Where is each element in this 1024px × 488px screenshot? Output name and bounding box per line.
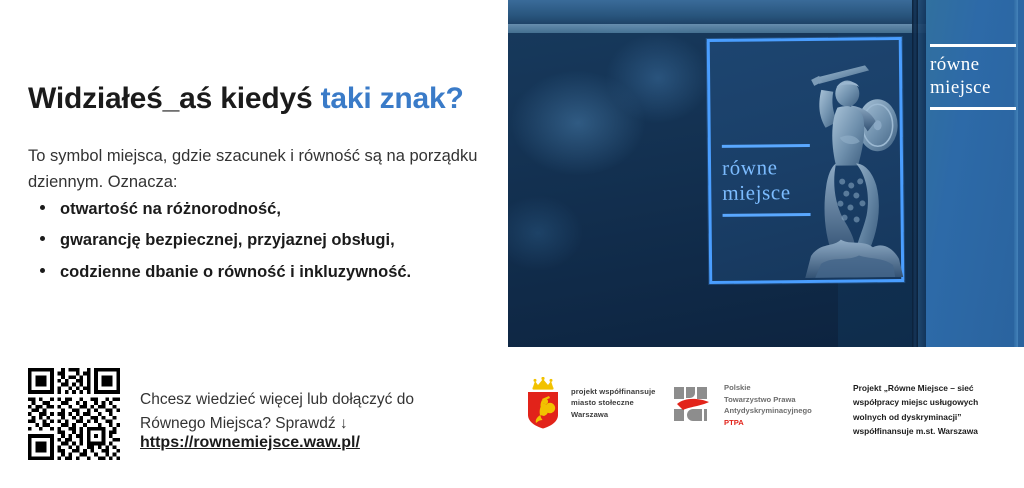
logo-word-1: równe: [930, 54, 1016, 77]
ptpa-line-3: Antydyskryminacyjnego: [724, 405, 812, 417]
left-text-column: Widziałeś_aś kiedyś taki znak? To symbol…: [0, 0, 508, 488]
qr-invitation-text: Chcesz wiedzieć więcej lub dołączyć do R…: [140, 388, 470, 436]
page-title: Widziałeś_aś kiedyś taki znak?: [28, 82, 498, 117]
footer-logos: projekt współfinansuje miasto stołeczne …: [508, 347, 1024, 488]
qr-code-block[interactable]: [28, 368, 120, 460]
ptpa-logo-text: Polskie Towarzystwo Prawa Antydyskrymina…: [724, 382, 812, 428]
bullet-dot-icon: [40, 205, 45, 210]
project-line-4: współfinansuje m.st. Warszawa: [853, 424, 1024, 438]
warsaw-logo: projekt współfinansuje miasto stołeczne …: [524, 377, 655, 429]
window-mullion-secondary: [918, 0, 926, 347]
ptpa-line-2: Towarzystwo Prawa: [724, 394, 812, 406]
list-item: otwartość na różnorodność,: [28, 198, 498, 220]
window-sticker: równe miejsce: [707, 37, 905, 284]
ptpa-line-1: Polskie: [724, 382, 812, 394]
intro-paragraph: To symbol miejsca, gdzie szacunek i równ…: [28, 143, 478, 196]
poster-canvas: Widziałeś_aś kiedyś taki znak? To symbol…: [0, 0, 1024, 488]
list-item: codzienne dbanie o równość i inkluzywnoś…: [28, 261, 498, 283]
ptpa-acronym: PTPA: [724, 417, 812, 429]
ptpa-logo-icon: [673, 384, 715, 426]
warsaw-logo-text: projekt współfinansuje miasto stołeczne …: [571, 386, 655, 420]
warsaw-line-3: Warszawa: [571, 409, 655, 420]
bullet-dot-icon: [40, 268, 45, 273]
ptpa-logo: Polskie Towarzystwo Prawa Antydyskrymina…: [673, 382, 812, 428]
logo-word-2: miejsce: [722, 180, 810, 206]
logo-bar-top: [722, 144, 810, 148]
project-line-1: Projekt „Równe Miejsce – sieć: [853, 381, 1024, 395]
list-item-label: codzienne dbanie o równość i inkluzywnoś…: [60, 263, 411, 281]
warsaw-line-2: miasto stołeczne: [571, 397, 655, 408]
list-item: gwarancję bezpiecznej, przyjaznej obsług…: [28, 229, 498, 251]
warsaw-line-1: projekt współfinansuje: [571, 386, 655, 397]
project-line-3: wolnych od dyskryminacji”: [853, 410, 1024, 424]
mermaid-statue-icon: [795, 59, 907, 278]
rowne-miejsce-logo: równe miejsce: [930, 44, 1016, 110]
list-item-label: gwarancję bezpiecznej, przyjaznej obsług…: [60, 231, 395, 249]
list-item-label: otwartość na różnorodność,: [60, 200, 281, 218]
sticker-rowne-miejsce-logo: równe miejsce: [722, 144, 811, 216]
headline-accent: taki znak?: [321, 82, 464, 115]
warsaw-coat-of-arms-icon: [524, 377, 562, 429]
logo-bar-top: [930, 44, 1016, 47]
logo-word-2: miejsce: [930, 77, 1016, 100]
project-line-2: współpracy miejsc usługowych: [853, 395, 1024, 409]
website-link[interactable]: https://rownemiejsce.waw.pl/: [140, 434, 360, 452]
project-description: Projekt „Równe Miejsce – sieć współpracy…: [853, 381, 1024, 439]
logo-bar-bottom: [930, 107, 1016, 110]
logo-word-1: równe: [722, 155, 810, 181]
benefits-list: otwartość na różnorodność, gwarancję bez…: [28, 198, 498, 292]
qr-code-icon[interactable]: [28, 368, 120, 460]
headline-part1: Widziałeś_aś kiedyś: [28, 82, 321, 115]
bullet-dot-icon: [40, 236, 45, 241]
